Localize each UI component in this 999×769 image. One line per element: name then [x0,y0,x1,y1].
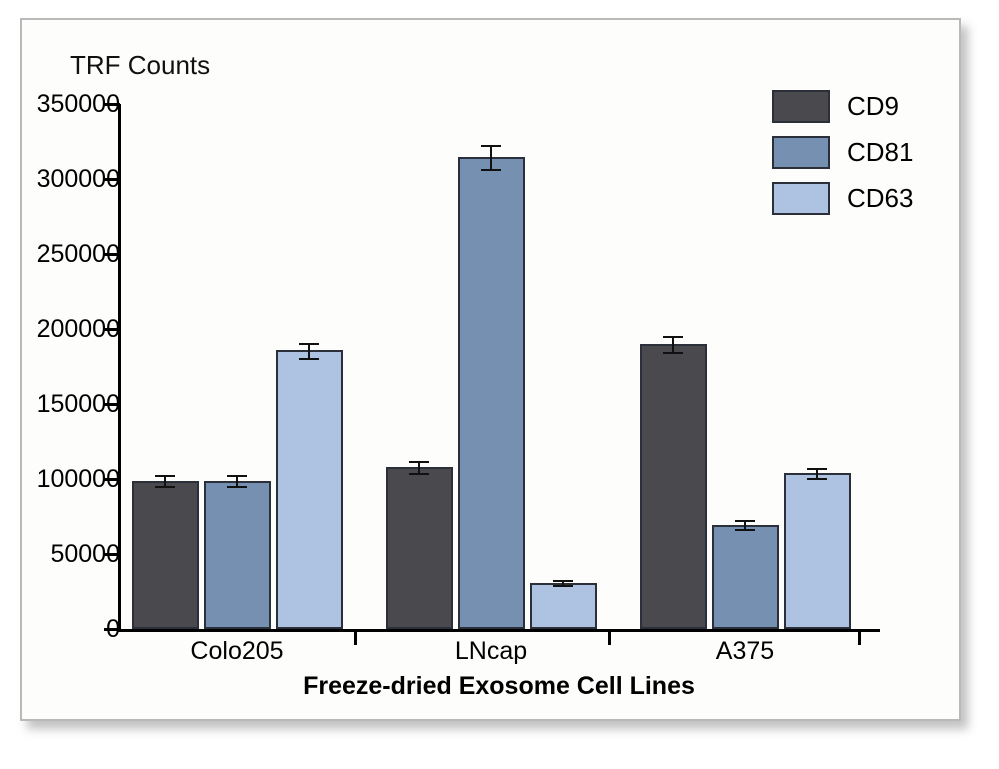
x-axis-category-label: Colo205 [190,637,283,666]
y-axis-tick-label: 350000 [12,92,120,117]
x-axis-title: Freeze-dried Exosome Cell Lines [118,672,880,701]
error-bar-cap-top [409,461,429,463]
error-bar-cap-bottom [299,358,319,360]
bar [204,481,271,630]
x-axis-category-label: A375 [716,637,774,666]
error-bar-cap-bottom [227,486,247,488]
legend-label: CD9 [847,93,899,119]
error-bar-cap-bottom [409,473,429,475]
error-bar-cap-top [735,520,755,522]
bar [530,583,597,630]
legend-item: CD9 [772,83,913,129]
y-axis-tick-label: 50000 [12,542,120,567]
y-axis-tick-label: 300000 [12,167,120,192]
y-axis-tick-label: 250000 [12,242,120,267]
error-bar-cap-top [553,580,573,582]
bar [276,350,343,629]
error-bar-cap-top [807,468,827,470]
legend-item: CD81 [772,129,913,175]
error-bar-cap-top [299,343,319,345]
error-bar-line [490,145,492,169]
error-bar-cap-bottom [481,169,501,171]
legend-swatch [772,182,830,215]
error-bar-cap-bottom [553,585,573,587]
bar [386,467,453,629]
legend-label: CD63 [847,185,913,211]
legend-swatch [772,90,830,123]
figure-screenshot: TRF Counts 35000030000025000020000015000… [0,0,999,769]
legend-swatch [772,136,830,169]
error-bar-cap-top [155,475,175,477]
y-axis-tick-label: 0 [12,617,120,642]
x-axis-tick-mark [354,629,357,645]
bar [712,525,779,629]
y-axis-tick-label: 100000 [12,467,120,492]
error-bar-cap-top [663,336,683,338]
bar [784,473,851,629]
legend-item: CD63 [772,175,913,221]
x-axis-line [118,629,880,632]
error-bar-cap-top [481,145,501,147]
error-bar-cap-bottom [735,529,755,531]
error-bar-cap-top [227,475,247,477]
x-axis-category-label: LNcap [455,637,527,666]
bar [458,157,525,630]
x-axis-tick-mark [608,629,611,645]
legend-label: CD81 [847,139,913,165]
error-bar-line [308,343,310,358]
y-axis-tick-label: 200000 [12,317,120,342]
x-axis-tick-mark [858,629,861,645]
y-axis-tick-label: 150000 [12,392,120,417]
y-axis-title: TRF Counts [70,50,210,81]
error-bar-cap-bottom [807,478,827,480]
error-bar-line [672,336,674,353]
error-bar-cap-bottom [663,352,683,354]
bar [640,344,707,629]
bar [132,481,199,630]
chart-legend: CD9CD81CD63 [772,83,913,221]
error-bar-cap-bottom [155,486,175,488]
bar-chart: TRF Counts 35000030000025000020000015000… [0,0,999,769]
